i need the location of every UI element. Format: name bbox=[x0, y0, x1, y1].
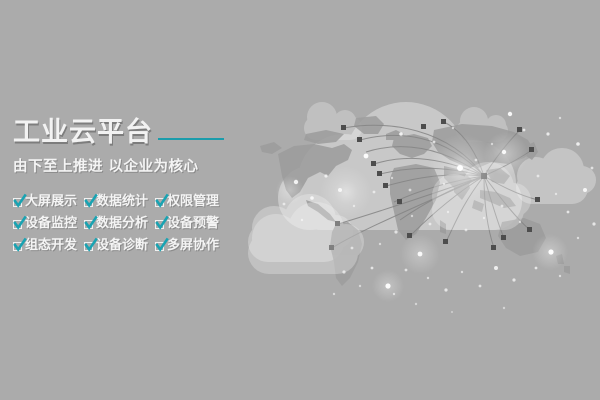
feature-item[interactable]: 数据分析 bbox=[84, 216, 155, 232]
check-icon bbox=[84, 197, 95, 208]
feature-label: 权限管理 bbox=[167, 194, 219, 210]
feature-item[interactable]: 设备监控 bbox=[13, 216, 84, 232]
check-mark-icon bbox=[85, 239, 97, 252]
check-mark-icon bbox=[156, 195, 168, 208]
check-mark-icon bbox=[14, 239, 26, 252]
feature-row: 大屏展示 数据统计 bbox=[13, 191, 250, 213]
feature-item[interactable]: 设备预警 bbox=[155, 216, 219, 232]
feature-item[interactable]: 多屏协作 bbox=[155, 238, 219, 254]
banner-canvas: 工业云平台 由下至上推进 以企业为核心 大屏展示 bbox=[0, 0, 600, 400]
check-mark-icon bbox=[156, 239, 168, 252]
feature-item[interactable]: 权限管理 bbox=[155, 194, 219, 210]
feature-label: 数据统计 bbox=[96, 194, 148, 210]
check-mark-icon bbox=[14, 195, 26, 208]
check-icon bbox=[13, 197, 24, 208]
feature-checklist: 大屏展示 数据统计 bbox=[0, 191, 250, 257]
page-subtitle: 由下至上推进 以企业为核心 bbox=[0, 157, 250, 177]
feature-label: 多屏协作 bbox=[167, 238, 219, 254]
title-row: 工业云平台 bbox=[0, 118, 250, 148]
check-icon bbox=[84, 219, 95, 230]
title-accent-rule bbox=[158, 138, 224, 140]
check-icon bbox=[13, 219, 24, 230]
cloud-world-network-illustration bbox=[248, 72, 600, 332]
check-mark-icon bbox=[85, 195, 97, 208]
check-icon bbox=[155, 241, 166, 252]
feature-label: 设备监控 bbox=[25, 216, 77, 232]
hero-copy: 工业云平台 由下至上推进 以企业为核心 大屏展示 bbox=[0, 118, 250, 257]
feature-item[interactable]: 组态开发 bbox=[13, 238, 84, 254]
feature-label: 设备预警 bbox=[167, 216, 219, 232]
feature-row: 设备监控 数据分析 bbox=[13, 213, 250, 235]
feature-row: 组态开发 设备诊断 bbox=[13, 235, 250, 257]
feature-item[interactable]: 设备诊断 bbox=[84, 238, 155, 254]
check-mark-icon bbox=[14, 217, 26, 230]
check-mark-icon bbox=[156, 217, 168, 230]
feature-label: 组态开发 bbox=[25, 238, 77, 254]
check-icon bbox=[155, 219, 166, 230]
check-icon bbox=[155, 197, 166, 208]
feature-label: 数据分析 bbox=[96, 216, 148, 232]
feature-label: 大屏展示 bbox=[25, 194, 77, 210]
page-title: 工业云平台 bbox=[13, 118, 153, 148]
feature-item[interactable]: 数据统计 bbox=[84, 194, 155, 210]
check-icon bbox=[84, 241, 95, 252]
check-mark-icon bbox=[85, 217, 97, 230]
check-icon bbox=[13, 241, 24, 252]
feature-item[interactable]: 大屏展示 bbox=[13, 194, 84, 210]
feature-label: 设备诊断 bbox=[96, 238, 148, 254]
